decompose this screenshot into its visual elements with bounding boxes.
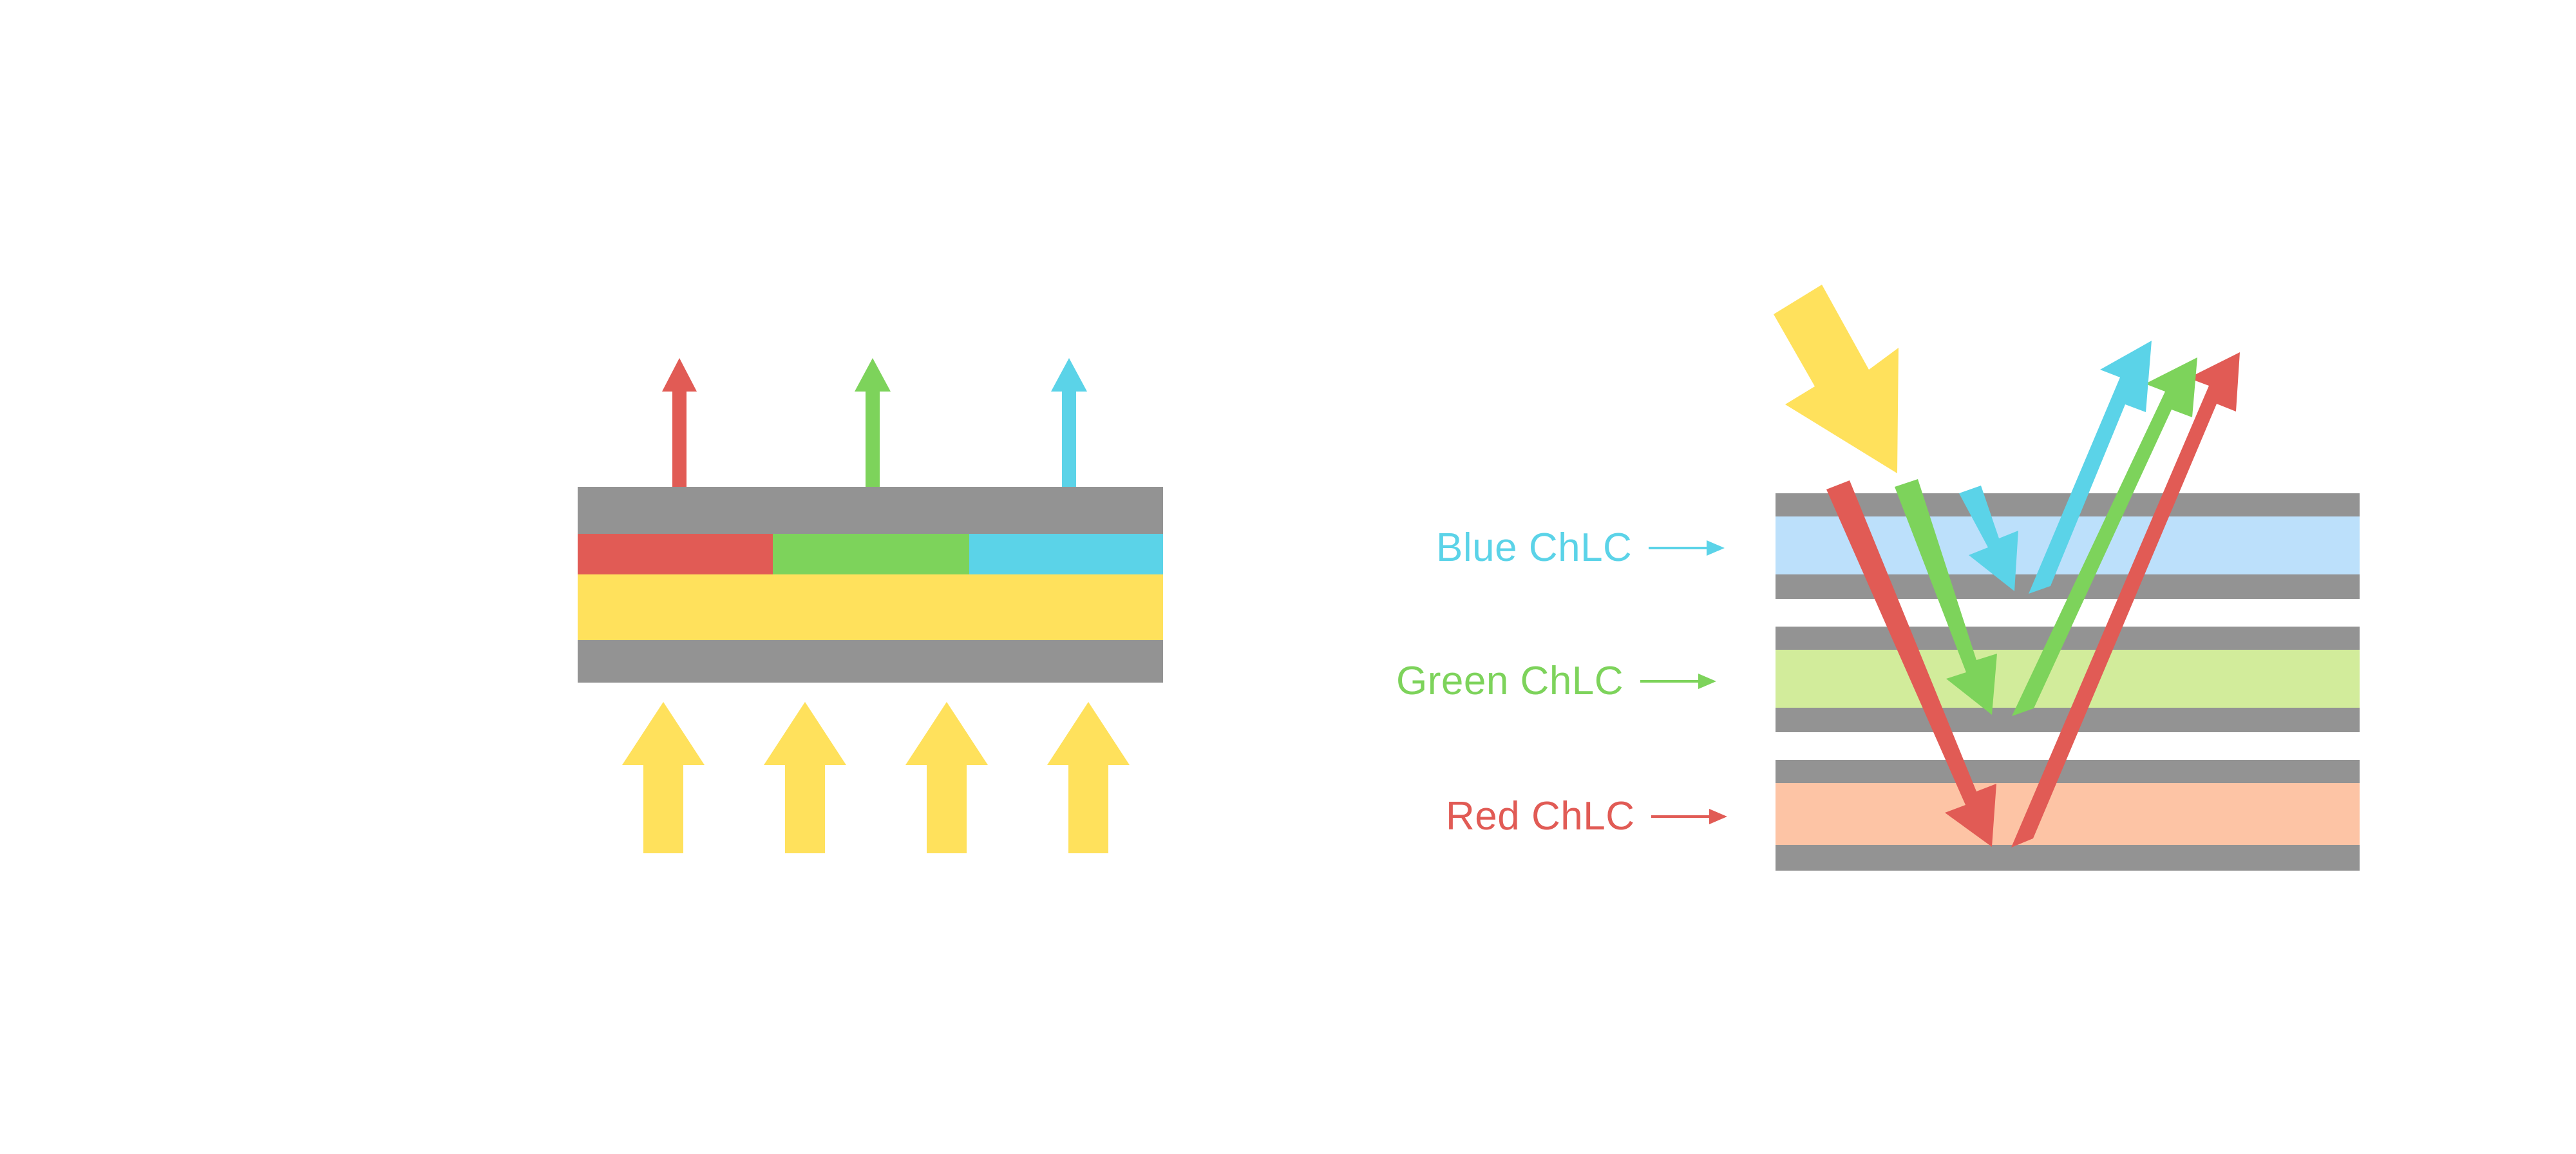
blue-chlc-label-row: Blue ChLC xyxy=(1436,525,1726,571)
figure-canvas: Blue ChLC Green ChLC Red ChLC xyxy=(0,0,2576,1154)
right-arrow-icon xyxy=(1649,535,1726,561)
backlight-arrow-3 xyxy=(905,702,988,853)
green-chlc-layer xyxy=(1776,650,2360,708)
green-chlc-label-text: Green ChLC xyxy=(1396,658,1624,704)
right-arrow-icon xyxy=(1651,804,1728,829)
red-chlc-label-row: Red ChLC xyxy=(1446,793,1728,839)
cyan-filter-segment xyxy=(969,534,1163,574)
emitted-red-arrow xyxy=(662,358,697,507)
red-cell-top-gray xyxy=(1776,760,2360,783)
red-chlc-layer xyxy=(1776,783,2360,845)
red-cell-bottom-gray xyxy=(1776,845,2360,871)
top-gray-substrate xyxy=(578,487,1163,534)
emitted-green-arrow xyxy=(855,358,891,507)
blue-chlc-label-text: Blue ChLC xyxy=(1436,525,1632,571)
yellow-backlight-layer xyxy=(578,574,1163,640)
right-arrow-icon xyxy=(1640,668,1718,694)
green-filter-segment xyxy=(773,534,969,574)
emissive-backlit-panel xyxy=(0,0,1288,1154)
red-chlc-label-text: Red ChLC xyxy=(1446,793,1634,839)
backlight-arrow-2 xyxy=(764,702,846,853)
emissive-stack-svg xyxy=(0,0,1288,1154)
ambient-light-arrow xyxy=(1774,285,1899,473)
green-chlc-label-row: Green ChLC xyxy=(1396,658,1718,704)
bottom-gray-substrate xyxy=(578,640,1163,683)
blue-cell-bottom-gray xyxy=(1776,574,2360,599)
red-filter-segment xyxy=(578,534,773,574)
chlc-stack-svg xyxy=(1288,0,2576,1154)
backlight-arrow-1 xyxy=(622,702,705,853)
emitted-blue-arrow xyxy=(1051,358,1087,507)
backlight-arrow-4 xyxy=(1047,702,1130,853)
chlc-reflective-panel: Blue ChLC Green ChLC Red ChLC xyxy=(1288,0,2576,1154)
